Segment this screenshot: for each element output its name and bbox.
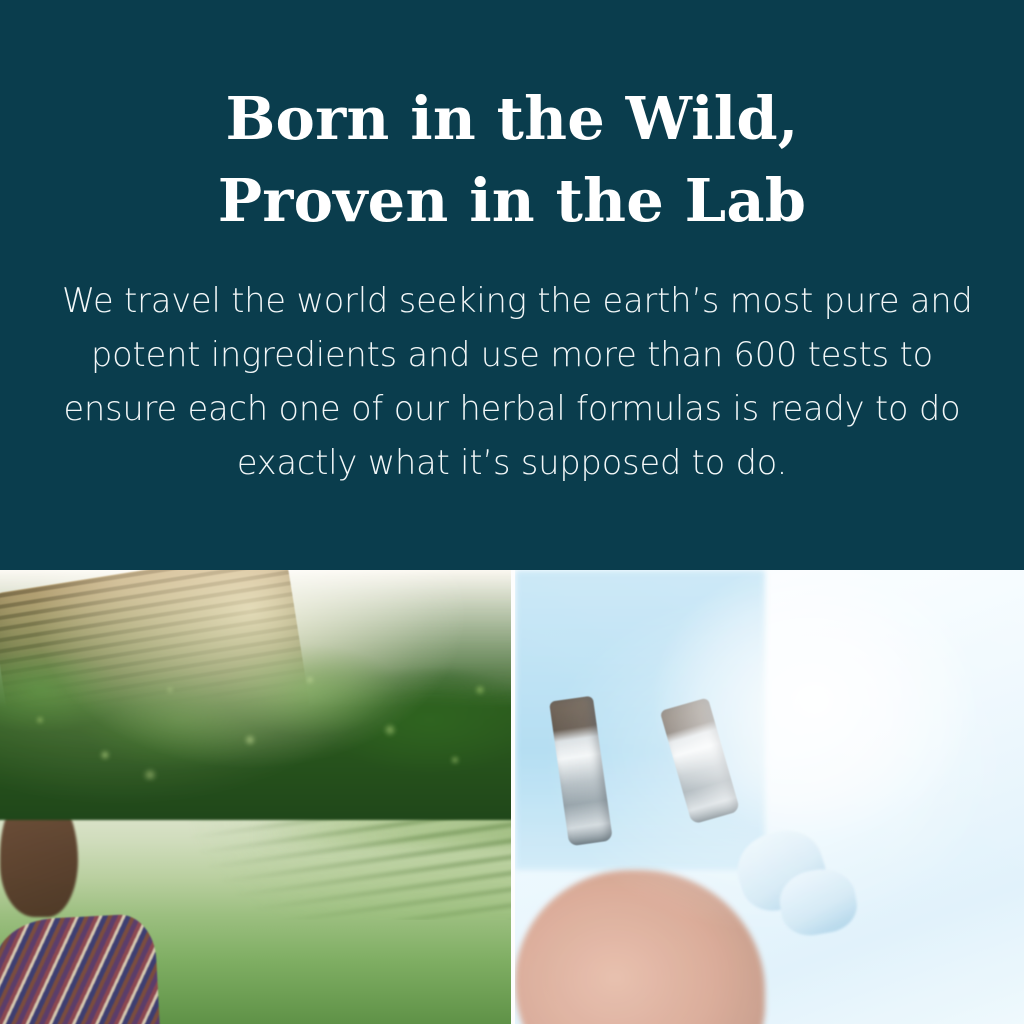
body-line-1: We travel the world seeking the earth’s … [62,274,962,328]
body-line-2: potent ingredients and use more than 600… [62,328,962,382]
sun-glow-layer [0,570,511,1024]
page-title: Born in the Wild, Proven in the Lab [132,78,892,242]
hero-body-copy: We travel the world seeking the earth’s … [62,274,962,490]
photo-strip [0,570,1024,1024]
body-line-4: exactly what it’s supposed to do. [62,436,962,490]
cool-tone-wash [515,570,1024,1024]
body-line-3: ensure each one of our herbal formulas i… [62,382,962,436]
headline-line-1: Born in the Wild, [132,78,892,160]
photo-lab-microscope [515,570,1024,1024]
photo-tea-harvest [0,570,511,1024]
hero-text-panel: Born in the Wild, Proven in the Lab We t… [0,0,1024,570]
promo-poster: Born in the Wild, Proven in the Lab We t… [0,0,1024,1024]
headline-line-2: Proven in the Lab [132,160,892,242]
